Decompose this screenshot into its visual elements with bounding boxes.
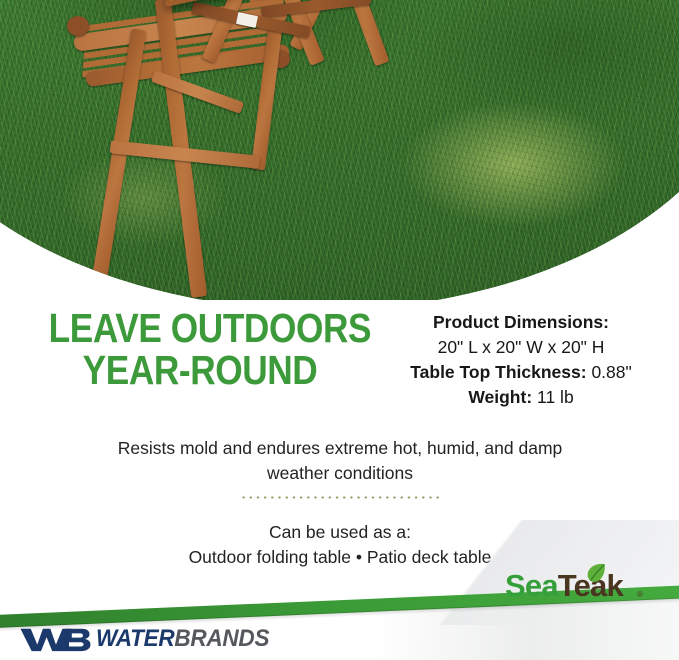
spec-label-dimensions: Product Dimensions: — [433, 312, 609, 332]
page-headline: LEAVE OUTDOORS YEAR-ROUND — [49, 307, 352, 391]
chair-knob-left — [67, 16, 89, 36]
product-photo — [0, 0, 679, 300]
spec-row-dimensions-value: 20" L x 20" W x 20" H — [376, 335, 666, 360]
product-feature-card: LEAVE OUTDOORS YEAR-ROUND Product Dimens… — [0, 0, 679, 660]
waterbrands-logo: WATERBRANDS — [18, 624, 280, 654]
spec-row-thickness: Table Top Thickness: 0.88" — [376, 360, 666, 385]
spec-label-thickness: Table Top Thickness: — [410, 362, 586, 382]
spec-label-weight: Weight: — [468, 387, 532, 407]
wordmark-brands: BRANDS — [174, 625, 269, 652]
seateak-sea-text: Sea — [505, 568, 558, 603]
spec-row-weight: Weight: 11 lb — [376, 385, 666, 410]
spec-value-weight: 11 lb — [537, 387, 574, 407]
product-specifications: Product Dimensions: 20" L x 20" W x 20" … — [376, 310, 666, 409]
headline-line-1: LEAVE OUTDOORS — [49, 307, 352, 349]
wb-monogram-icon — [18, 625, 92, 653]
seateak-logo: SeaTeak ® — [505, 566, 665, 610]
spec-value-thickness: 0.88" — [591, 362, 631, 382]
teak-folding-table — [165, 0, 565, 58]
product-description: Resists mold and endures extreme hot, hu… — [52, 436, 628, 486]
waterbrands-wordmark: WATERBRANDS — [96, 625, 269, 653]
registered-mark: ® — [637, 590, 643, 599]
description-line-1: Resists mold and endures extreme hot, hu… — [52, 436, 628, 461]
spec-row-dimensions-label: Product Dimensions: — [376, 310, 666, 335]
photo-ellipse-mask — [0, 0, 679, 300]
dotted-divider — [240, 496, 440, 499]
description-line-2: weather conditions — [52, 461, 628, 486]
leaf-icon — [584, 562, 607, 585]
wordmark-water: WATER — [96, 625, 174, 652]
spec-value-dimensions: 20" L x 20" W x 20" H — [438, 337, 605, 357]
headline-line-2: YEAR-ROUND — [49, 349, 352, 391]
table-leg-rear-right — [328, 0, 390, 66]
chair-rung-middle — [151, 70, 244, 114]
